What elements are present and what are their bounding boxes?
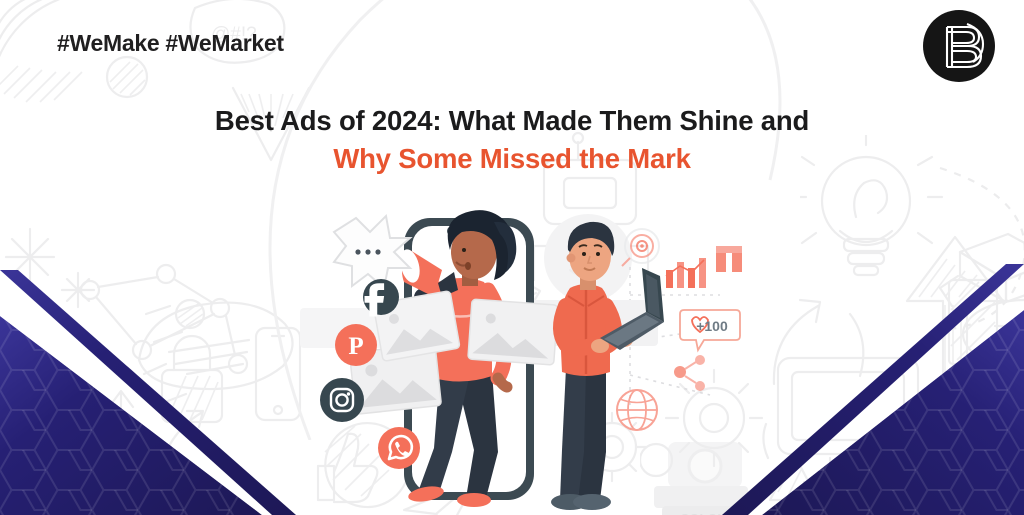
headline-line-2: Why Some Missed the Mark xyxy=(0,142,1024,176)
marketing-banner: @#!? xyxy=(0,0,1024,515)
hatched-circle-icon xyxy=(100,50,154,104)
headline: Best Ads of 2024: What Made Them Shine a… xyxy=(0,104,1024,176)
bottom-left-ribbon xyxy=(0,250,430,515)
logo-monogram-icon xyxy=(923,10,995,82)
headline-line-1: Best Ads of 2024: What Made Them Shine a… xyxy=(0,104,1024,138)
hashtag-text: #WeMake #WeMarket xyxy=(57,30,284,57)
bottom-right-ribbon xyxy=(594,250,1024,515)
brand-logo[interactable] xyxy=(923,10,995,82)
